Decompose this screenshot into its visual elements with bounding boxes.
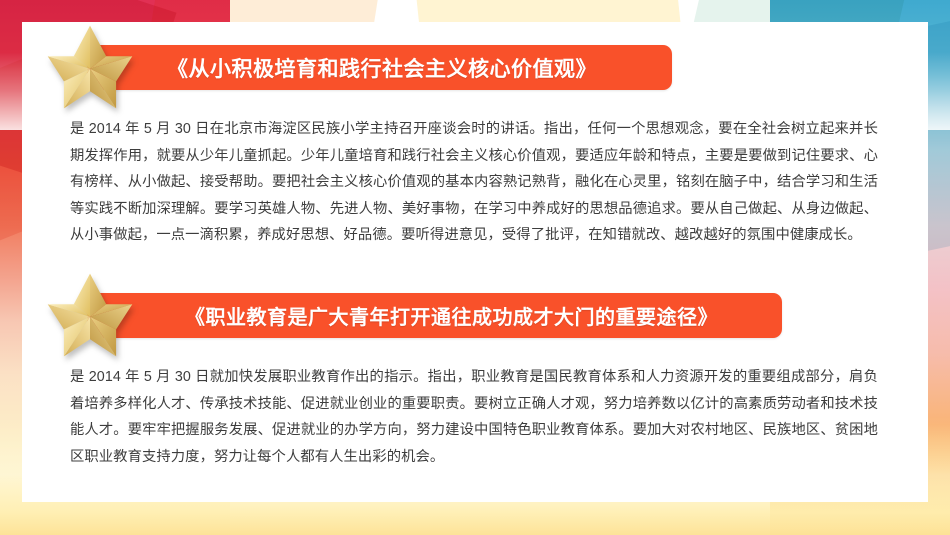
section-header-row: 《职业教育是广大青年打开通往成功成才大门的重要途径》 <box>22 270 928 362</box>
section-body-text: 是 2014 年 5 月 30 日就加快发展职业教育作出的指示。指出，职业教育是… <box>70 364 878 470</box>
section-body-text: 是 2014 年 5 月 30 日在北京市海淀区民族小学主持召开座谈会时的讲话。… <box>70 116 878 249</box>
gold-star-icon <box>44 270 136 360</box>
section-title: 《职业教育是广大青年打开通往成功成才大门的重要途径》 <box>185 301 718 330</box>
slide-root: 《从小积极培育和践行社会主义核心价值观》 <box>0 0 950 535</box>
section-header-row: 《从小积极培育和践行社会主义核心价值观》 <box>22 22 928 114</box>
title-banner: 《职业教育是广大青年打开通往成功成才大门的重要途径》 <box>87 293 782 338</box>
title-banner: 《从小积极培育和践行社会主义核心价值观》 <box>87 45 672 90</box>
gold-star-icon <box>44 22 136 112</box>
section-block: 《从小积极培育和践行社会主义核心价值观》 <box>22 22 928 249</box>
content-card: 《从小积极培育和践行社会主义核心价值观》 <box>22 22 928 502</box>
section-block: 《职业教育是广大青年打开通往成功成才大门的重要途径》 <box>22 270 928 470</box>
section-title: 《从小积极培育和践行社会主义核心价值观》 <box>167 53 597 83</box>
